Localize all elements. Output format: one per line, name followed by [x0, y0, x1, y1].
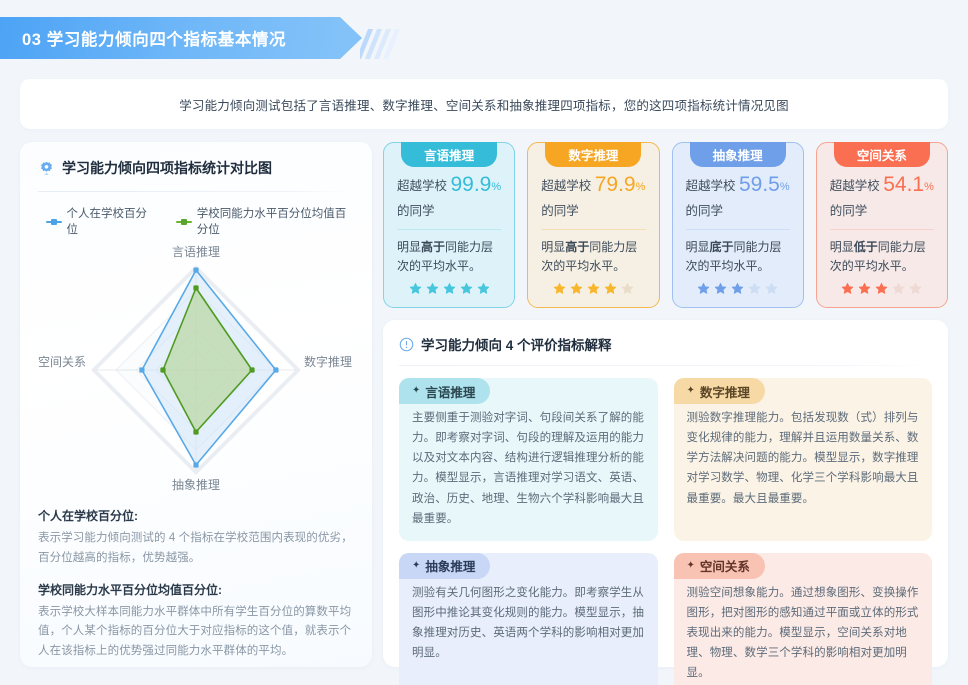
explanation-title: 学习能力倾向 4 个评价指标解释: [421, 334, 612, 354]
score-card-note-emphasis-3: 底于: [710, 240, 734, 254]
score-cards-row: 言语推理超越学校 99.9%的同学明显高于同能力层次的平均水平。数字推理超越学校…: [383, 142, 948, 308]
explanation-card-3: ✦抽象推理测验有关几何图形之变化能力。即考察学生从图形中推论其变化规则的能力。模…: [399, 553, 658, 685]
score-card-star-rating-2: [528, 282, 658, 295]
explanation-text-2: 测验数字推理能力。包括发现数（式）排列与变化规律的能力，理解并且运用数量关系、数…: [687, 408, 920, 509]
score-card-note-emphasis-2: 高于: [565, 240, 589, 254]
star-icon: [443, 282, 456, 295]
score-card-divider-3: [686, 229, 790, 230]
legend-marker-personal-icon: [46, 217, 61, 226]
score-card-title-4: 空间关系: [857, 145, 907, 164]
explanation-tag-label-1: 言语推理: [425, 382, 475, 401]
score-card-prefix-3: 超越学校: [686, 179, 739, 193]
star-icon: [697, 282, 710, 295]
score-card-note-prefix-3: 明显: [686, 240, 710, 254]
score-card-value-1: 99.9: [450, 173, 491, 196]
radar-axis-label-numeric: 数字推理: [304, 353, 352, 370]
score-card-percent-sign-4: %: [924, 181, 934, 193]
star-icon: [765, 282, 778, 295]
score-card-percentile-line-2: 超越学校 79.9%: [541, 169, 645, 202]
score-card-note-1: 明显高于同能力层次的平均水平。: [397, 238, 501, 276]
score-card-percent-sign-1: %: [491, 181, 501, 193]
radar-point-s2-4: [160, 367, 165, 372]
score-card-title-3: 抽象推理: [713, 145, 763, 164]
score-card-note-prefix-2: 明显: [541, 240, 565, 254]
radar-axis-label-spatial: 空间关系: [38, 353, 86, 370]
explanation-card-4: ✦空间关系测验空间想象能力。通过想象图形、变换操作图形，把对图形的感知通过平面或…: [674, 553, 933, 685]
diamond-icon: ✦: [412, 561, 420, 571]
gear-icon: [38, 160, 55, 177]
legend-item-school-average[interactable]: 学校同能力水平百分位均值百分位: [176, 205, 354, 237]
score-card-note-prefix-4: 明显: [830, 240, 854, 254]
star-icon: [909, 282, 922, 295]
radar-point-s1-4: [139, 367, 144, 372]
radar-point-s2-3: [193, 429, 198, 434]
star-icon: [841, 282, 854, 295]
radar-point-s1-3: [193, 462, 198, 467]
section-header-banner: 03 学习能力倾向四个指标基本情况: [0, 17, 340, 59]
section-header: 03 学习能力倾向四个指标基本情况: [0, 17, 400, 59]
score-card-title-tab-4: 空间关系: [834, 142, 930, 167]
score-card-title-1: 言语推理: [424, 145, 474, 164]
radar-axis-label-verbal: 言语推理: [172, 243, 220, 260]
score-card-3: 抽象推理超越学校 59.5%的同学明显底于同能力层次的平均水平。: [672, 142, 804, 308]
chart-legend: 个人在学校百分位 学校同能力水平百分位均值百分位: [38, 205, 354, 237]
score-card-prefix-4: 超越学校: [830, 179, 883, 193]
explanation-header: 学习能力倾向 4 个评价指标解释: [399, 334, 932, 354]
explanation-tag-label-2: 数字推理: [700, 382, 750, 401]
score-card-note-prefix-1: 明显: [397, 240, 421, 254]
score-card-suffix-1: 的同学: [397, 202, 501, 221]
score-card-star-rating-4: [817, 282, 947, 295]
explanation-tag-3: ✦抽象推理: [399, 553, 490, 579]
score-card-title-2: 数字推理: [568, 145, 618, 164]
radar-axis-label-abstract: 抽象推理: [172, 476, 220, 493]
explanation-divider: [399, 365, 932, 366]
score-card-suffix-3: 的同学: [686, 202, 790, 221]
diamond-icon: ✦: [412, 386, 420, 396]
score-card-4: 空间关系超越学校 54.1%的同学明显低于同能力层次的平均水平。: [816, 142, 948, 308]
diamond-icon: ✦: [687, 561, 695, 571]
radar-chart: 言语推理 数字推理 抽象推理 空间关系: [38, 243, 354, 503]
explanation-tag-1: ✦言语推理: [399, 378, 490, 404]
star-icon: [477, 282, 490, 295]
score-card-value-4: 54.1: [883, 173, 924, 196]
score-card-1: 言语推理超越学校 99.9%的同学明显高于同能力层次的平均水平。: [383, 142, 515, 308]
star-icon: [875, 282, 888, 295]
panel-divider: [38, 191, 354, 192]
star-icon: [587, 282, 600, 295]
score-card-percentile-line-4: 超越学校 54.1%: [830, 169, 934, 202]
panel-title-row: 学习能力倾向四项指标统计对比图: [38, 158, 354, 178]
radar-chart-svg: [46, 243, 346, 493]
star-icon: [858, 282, 871, 295]
indicator-explanation-panel: 学习能力倾向 4 个评价指标解释 ✦言语推理主要侧重于测验对字词、句段间关系了解…: [383, 320, 948, 667]
star-icon: [426, 282, 439, 295]
score-card-prefix-2: 超越学校: [541, 179, 594, 193]
intro-banner: 学习能力倾向测试包括了言语推理、数字推理、空间关系和抽象推理四项指标，您的这四项…: [20, 79, 948, 129]
score-card-star-rating-1: [384, 282, 514, 295]
star-icon: [621, 282, 634, 295]
definitions-block: 个人在学校百分位: 表示学习能力倾向测试的 4 个指标在学校范围内表现的优劣，百…: [38, 507, 354, 662]
score-card-percentile-line-3: 超越学校 59.5%: [686, 169, 790, 202]
legend-label-personal: 个人在学校百分位: [67, 205, 151, 237]
explanation-tag-2: ✦数字推理: [674, 378, 765, 404]
banner-arrow-shape: [340, 17, 362, 59]
score-card-title-tab-2: 数字推理: [545, 142, 641, 167]
explanation-tag-4: ✦空间关系: [674, 553, 765, 579]
intro-text: 学习能力倾向测试包括了言语推理、数字推理、空间关系和抽象推理四项指标，您的这四项…: [179, 95, 789, 114]
star-icon: [409, 282, 422, 295]
star-icon: [553, 282, 566, 295]
score-card-percentile-line-1: 超越学校 99.9%: [397, 169, 501, 202]
radar-point-s2-2: [249, 367, 254, 372]
score-card-2: 数字推理超越学校 79.9%的同学明显高于同能力层次的平均水平。: [527, 142, 659, 308]
score-card-divider-4: [830, 229, 934, 230]
explanation-text-1: 主要侧重于测验对字词、句段间关系了解的能力。即考察对字词、句段的理解及运用的能力…: [412, 408, 645, 529]
explanation-text-4: 测验空间想象能力。通过想象图形、变换操作图形，把对图形的感知通过平面或立体的形式…: [687, 583, 920, 684]
banner-decorative-stripes: [360, 29, 404, 59]
legend-item-personal[interactable]: 个人在学校百分位: [46, 205, 150, 237]
definition-desc-personal: 表示学习能力倾向测试的 4 个指标在学校范围内表现的优劣，百分位越高的指标，优势…: [38, 529, 354, 569]
score-card-percent-sign-3: %: [780, 181, 790, 193]
score-card-note-2: 明显高于同能力层次的平均水平。: [541, 238, 645, 276]
explanation-card-2: ✦数字推理测验数字推理能力。包括发现数（式）排列与变化规律的能力，理解并且运用数…: [674, 378, 933, 541]
star-icon: [604, 282, 617, 295]
radar-point-s2-1: [193, 285, 198, 290]
radar-point-s1-2: [273, 367, 278, 372]
star-icon: [748, 282, 761, 295]
score-card-prefix-1: 超越学校: [397, 179, 450, 193]
score-card-note-3: 明显底于同能力层次的平均水平。: [686, 238, 790, 276]
star-icon: [570, 282, 583, 295]
star-icon: [714, 282, 727, 295]
star-icon: [731, 282, 744, 295]
score-card-percent-sign-2: %: [636, 181, 646, 193]
radar-point-s1-1: [193, 268, 198, 273]
star-icon: [892, 282, 905, 295]
page-title: 03 学习能力倾向四个指标基本情况: [0, 26, 286, 50]
definition-desc-school: 表示学校大样本同能力水平群体中所有学生百分位的算数平均值，个人某个指标的百分位大…: [38, 603, 354, 662]
score-card-divider-2: [541, 229, 645, 230]
score-card-note-emphasis-4: 低于: [854, 240, 878, 254]
definition-term-school: 学校同能力水平百分位均值百分位:: [38, 581, 354, 598]
score-card-title-tab-1: 言语推理: [401, 142, 497, 167]
score-card-note-4: 明显低于同能力层次的平均水平。: [830, 238, 934, 276]
score-card-note-emphasis-1: 高于: [421, 240, 445, 254]
score-card-value-3: 59.5: [739, 173, 780, 196]
definition-term-personal: 个人在学校百分位:: [38, 507, 354, 524]
explanation-card-1: ✦言语推理主要侧重于测验对字词、句段间关系了解的能力。即考察对字词、句段的理解及…: [399, 378, 658, 541]
star-icon: [460, 282, 473, 295]
info-icon: [399, 337, 414, 352]
explanation-tag-label-4: 空间关系: [700, 556, 750, 575]
explanation-grid: ✦言语推理主要侧重于测验对字词、句段间关系了解的能力。即考察对字词、句段的理解及…: [399, 378, 932, 685]
panel-title: 学习能力倾向四项指标统计对比图: [62, 158, 272, 178]
score-card-suffix-2: 的同学: [541, 202, 645, 221]
score-card-suffix-4: 的同学: [830, 202, 934, 221]
score-card-title-tab-3: 抽象推理: [690, 142, 786, 167]
legend-label-school-average: 学校同能力水平百分位均值百分位: [197, 205, 354, 237]
diamond-icon: ✦: [687, 386, 695, 396]
score-card-divider-1: [397, 229, 501, 230]
legend-marker-school-icon: [176, 217, 191, 226]
explanation-text-3: 测验有关几何图形之变化能力。即考察学生从图形中推论其变化规则的能力。模型显示，抽…: [412, 583, 645, 664]
explanation-tag-label-3: 抽象推理: [425, 556, 475, 575]
radar-chart-panel: 学习能力倾向四项指标统计对比图 个人在学校百分位 学校同能力水平百分位均值百分位…: [20, 142, 372, 667]
score-card-value-2: 79.9: [595, 173, 636, 196]
score-card-star-rating-3: [673, 282, 803, 295]
